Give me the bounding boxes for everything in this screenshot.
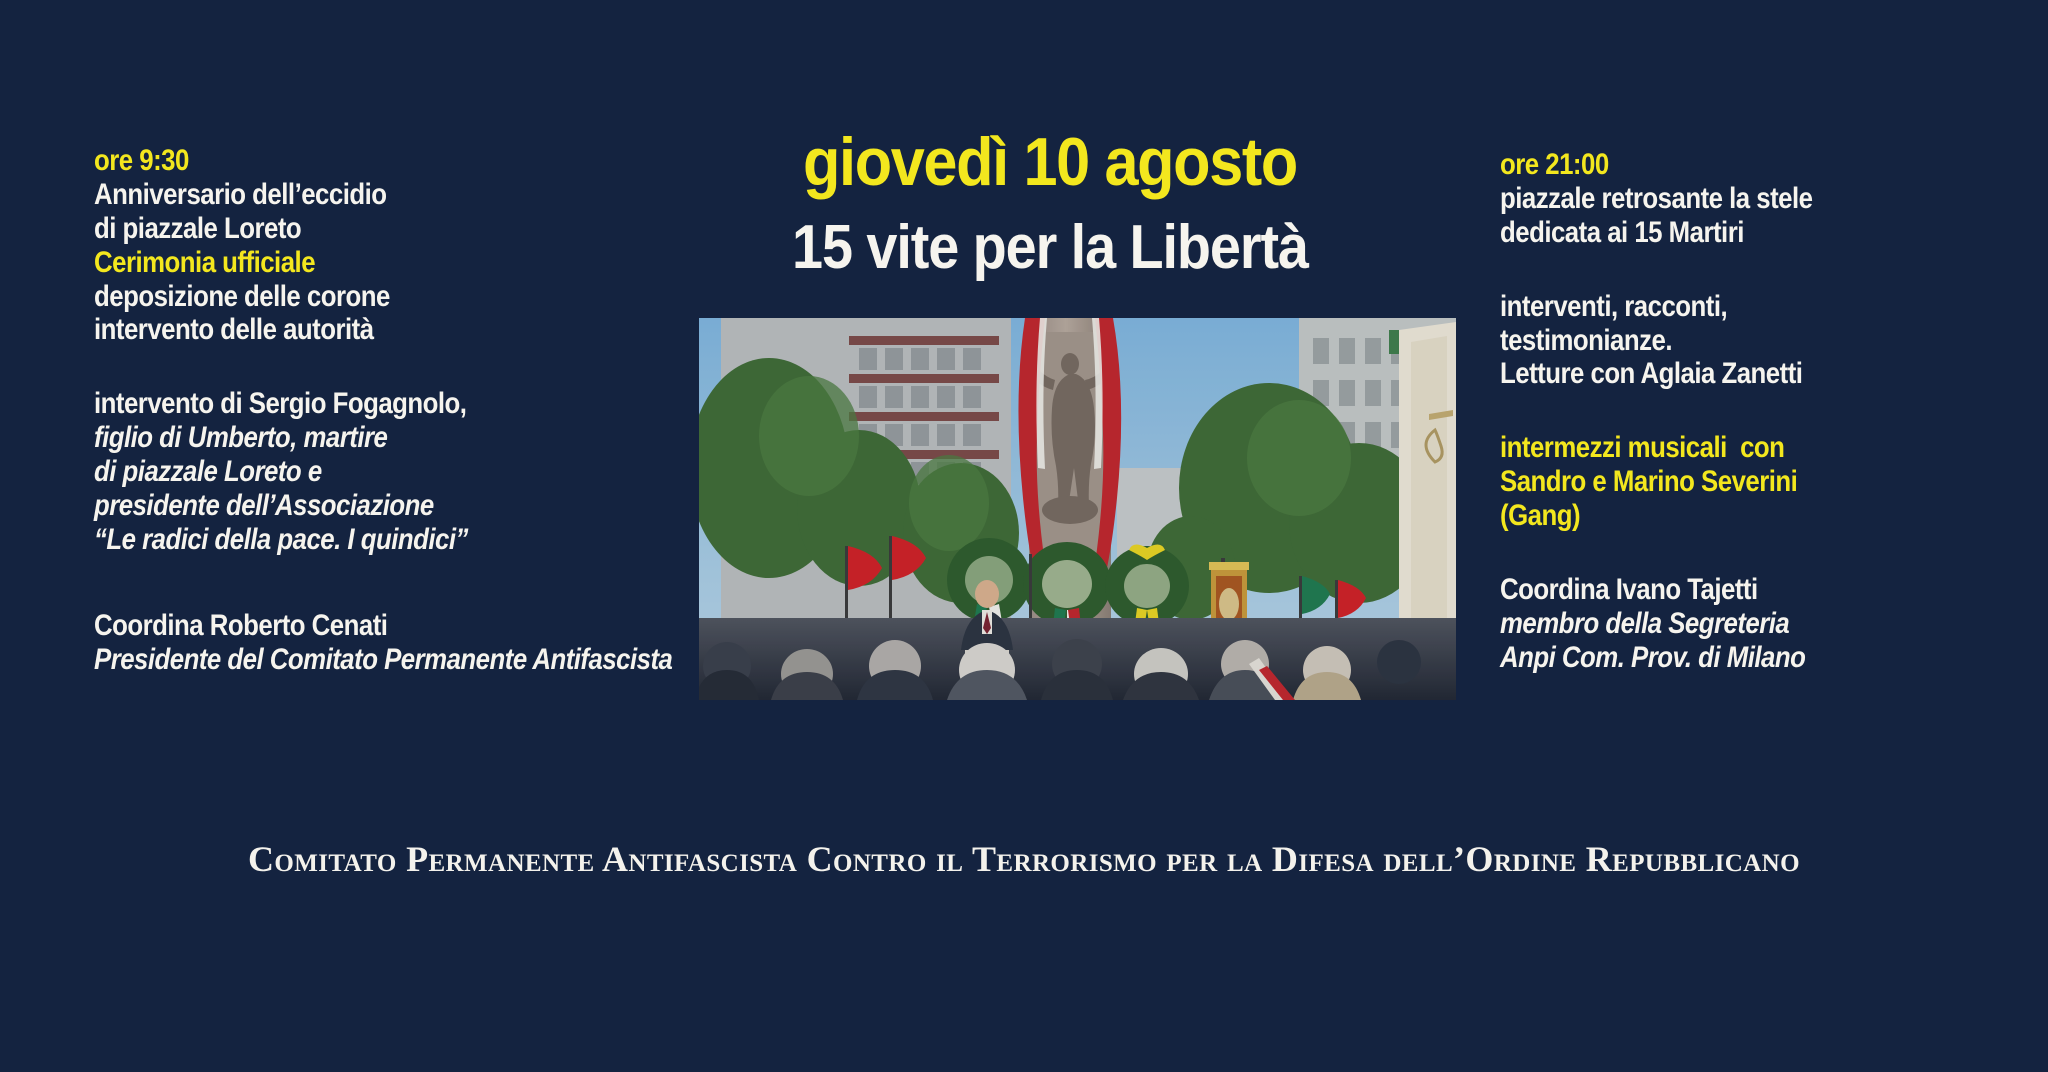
- center-title-column: giovedì 10 agosto 15 vite per la Libertà: [700, 128, 1400, 280]
- ceremony-photo-illustration: [699, 318, 1456, 700]
- morning-highlight: Cerimonia ufficiale: [94, 246, 627, 280]
- morning-time: ore 9:30: [94, 144, 627, 178]
- right-coordinator-block: Coordina Ivano Tajetti membro della Segr…: [1500, 573, 2020, 675]
- evening-time: ore 21:00: [1500, 148, 1947, 182]
- evening-event-block: ore 21:00 piazzale retrosante la stele d…: [1500, 148, 2020, 250]
- morning-detail-line-1: deposizione delle corone: [94, 280, 627, 314]
- left-coordinator-block: Coordina Roberto Cenati Presidente del C…: [94, 609, 714, 677]
- spacer-morning: [94, 347, 714, 387]
- right-coordinator-role-line-1: membro della Segreteria: [1500, 607, 1947, 641]
- evening-venue-line-1: piazzale retrosante la stele: [1500, 182, 1947, 216]
- organizer-name: Comitato Permanente Antifascista Contro …: [248, 838, 1800, 880]
- right-program-column: ore 21:00 piazzale retrosante la stele d…: [1500, 148, 2020, 675]
- speaker-block: intervento di Sergio Fogagnolo, figlio d…: [94, 387, 714, 556]
- morning-detail-line-2: intervento delle autorità: [94, 313, 627, 347]
- event-date: giovedì 10 agosto: [735, 128, 1365, 197]
- spacer-speaker: [94, 557, 714, 609]
- right-coordinator-name: Coordina Ivano Tajetti: [1500, 573, 1947, 607]
- spacer-evening-venue: [1500, 250, 2020, 290]
- event-title: 15 vite per la Libertà: [735, 215, 1365, 280]
- music-block: intermezzi musicali con Sandro e Marino …: [1500, 431, 2020, 533]
- evening-program-line-2: testimonianze.: [1500, 324, 1947, 358]
- spacer-music: [1500, 533, 2020, 573]
- left-coordinator-role: Presidente del Comitato Permanente Antif…: [94, 643, 627, 677]
- ceremony-photo: [699, 318, 1456, 700]
- morning-title-line-2: di piazzale Loreto: [94, 212, 627, 246]
- morning-title-line-1: Anniversario dell’eccidio: [94, 178, 627, 212]
- music-line-2: Sandro e Marino Severini: [1500, 465, 1947, 499]
- evening-program-line-1: interventi, racconti,: [1500, 290, 1947, 324]
- left-program-column: ore 9:30 Anniversario dell’eccidio di pi…: [94, 144, 714, 677]
- poster-canvas: ore 9:30 Anniversario dell’eccidio di pi…: [0, 0, 2048, 1072]
- speaker-desc-line-4: “Le radici della pace. I quindici”: [94, 523, 627, 557]
- morning-event-block: ore 9:30 Anniversario dell’eccidio di pi…: [94, 144, 714, 347]
- right-coordinator-role-line-2: Anpi Com. Prov. di Milano: [1500, 641, 1947, 675]
- footer: Comitato Permanente Antifascista Contro …: [0, 838, 2048, 880]
- evening-venue-line-2: dedicata ai 15 Martiri: [1500, 216, 1947, 250]
- music-line-1: intermezzi musicali con: [1500, 431, 1947, 465]
- speaker-desc-line-1: figlio di Umberto, martire: [94, 421, 627, 455]
- evening-program-block: interventi, racconti, testimonianze. Let…: [1500, 290, 2020, 392]
- spacer-evening-program: [1500, 391, 2020, 431]
- evening-program-line-3: Letture con Aglaia Zanetti: [1500, 357, 1947, 391]
- music-line-3: (Gang): [1500, 499, 1947, 533]
- speaker-desc-line-2: di piazzale Loreto e: [94, 455, 627, 489]
- speaker-desc-line-3: presidente dell’Associazione: [94, 489, 627, 523]
- left-coordinator-name: Coordina Roberto Cenati: [94, 609, 627, 643]
- speaker-intro: intervento di Sergio Fogagnolo,: [94, 387, 627, 421]
